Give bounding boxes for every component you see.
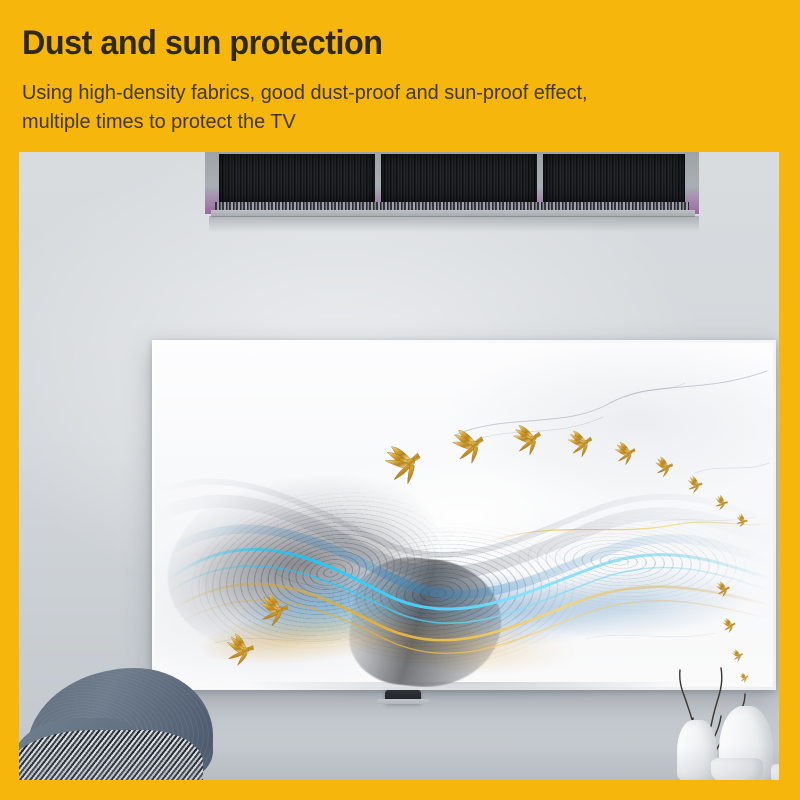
golden-bird — [510, 422, 557, 458]
page-title: Dust and sun protection — [22, 24, 383, 63]
product-photo — [19, 152, 779, 780]
cabinet-panel — [543, 154, 685, 202]
golden-bird — [566, 429, 606, 459]
tv-with-dust-cover — [152, 340, 776, 690]
cabinet-shadow — [209, 216, 699, 232]
overhead-cabinet — [205, 152, 699, 214]
golden-bird — [380, 439, 443, 489]
golden-bird — [714, 581, 738, 599]
tv-cover-edge — [152, 340, 776, 690]
golden-bird — [731, 649, 749, 662]
floor-shadow-band — [19, 746, 779, 780]
golden-bird — [613, 441, 647, 467]
golden-bird — [652, 456, 684, 481]
golden-bird — [449, 425, 504, 467]
tv-stand-foot — [385, 690, 421, 703]
cover-artwork — [155, 343, 773, 687]
cabinet-panel — [381, 154, 537, 202]
header-banner: Dust and sun protection Using high-densi… — [0, 0, 800, 152]
cabinet-panel — [219, 154, 375, 202]
golden-bird — [721, 618, 743, 635]
page-subtitle: Using high-density fabrics, good dust-pr… — [22, 78, 759, 136]
